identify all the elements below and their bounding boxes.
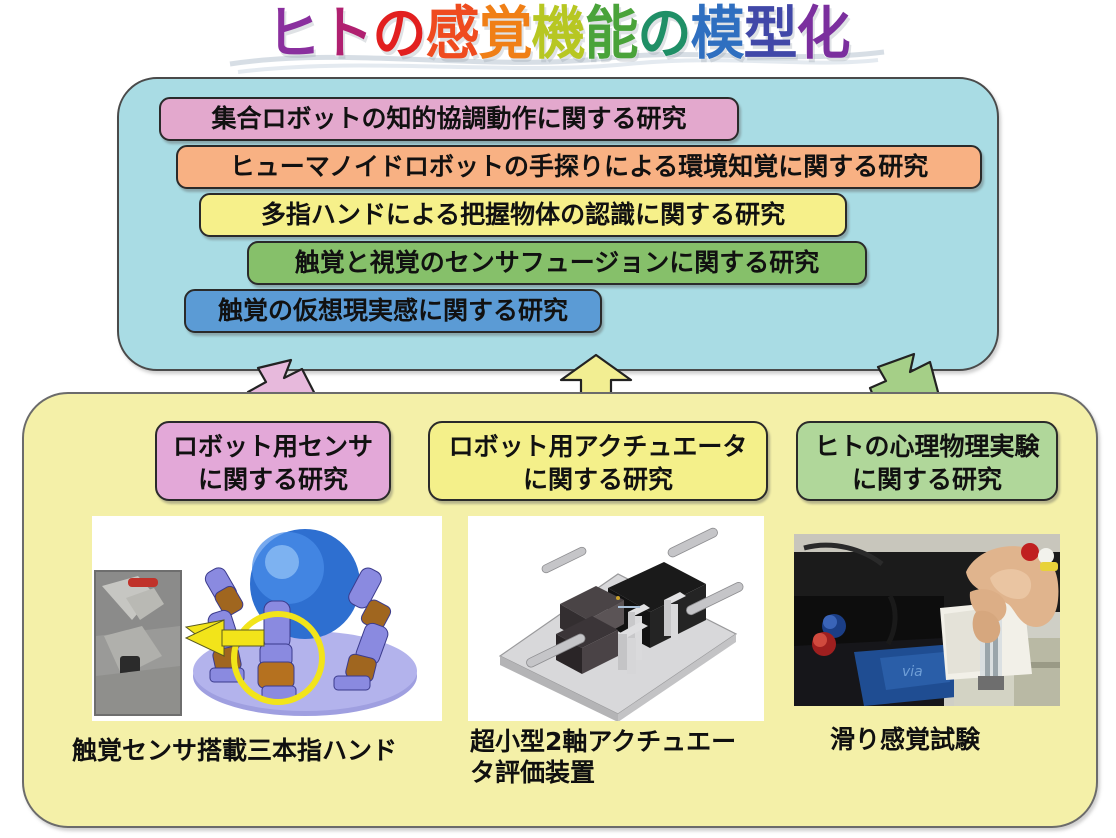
title-char: の [373, 0, 426, 68]
category-label-line1: ロボット用センサ [173, 432, 373, 461]
category-label-line2: に関する研究 [523, 465, 673, 494]
research-foundations-panel: ロボット用センサ に関する研究 ロボット用アクチュエータ に関する研究 ヒトの心… [22, 392, 1098, 828]
category-box-actuator: ロボット用アクチュエータ に関する研究 [428, 421, 768, 501]
title-char: ヒ [267, 0, 320, 68]
title-text: ヒトの感覚機能の模型化 [267, 0, 850, 68]
caption-sensor: 触覚センサ搭載三本指ハンド [72, 735, 444, 766]
category-label-line2: に関する研究 [852, 465, 1002, 494]
topic-bar-3: 多指ハンドによる把握物体の認識に関する研究 [199, 193, 847, 237]
category-label-line2: に関する研究 [198, 465, 348, 494]
category-box-psychophysics: ヒトの心理物理実験 に関する研究 [796, 421, 1058, 501]
category-box-sensor: ロボット用センサ に関する研究 [155, 421, 391, 501]
title-char: 機 [532, 0, 585, 68]
title-char: 型 [744, 0, 797, 68]
caption-psychophysics: 滑り感覚試験 [830, 724, 1070, 755]
title-char: 化 [797, 0, 850, 68]
diagram-canvas: ヒトの感覚機能の模型化 集合ロボットの知的協調動作に関する研究 ヒューマノイドロ… [0, 0, 1116, 838]
caption-actuator: 超小型2軸アクチュエー タ評価装置 [470, 726, 770, 788]
three-finger-tactile-hand-photo [92, 516, 442, 721]
svg-text:via: via [902, 664, 923, 680]
two-axis-actuator-evaluation-device-render [468, 516, 764, 721]
title-char: 模 [691, 0, 744, 68]
title-char: ト [320, 0, 373, 68]
topic-bar-5: 触覚の仮想現実感に関する研究 [184, 289, 602, 333]
slip-sensation-test-photo: via [794, 534, 1060, 706]
title-char: 能 [585, 0, 638, 68]
title-char: 感 [426, 0, 479, 68]
category-label-line1: ヒトの心理物理実験 [814, 432, 1039, 461]
page-title: ヒトの感覚機能の模型化 [0, 2, 1116, 74]
category-label-line1: ロボット用アクチュエータ [449, 432, 748, 461]
research-themes-panel: 集合ロボットの知的協調動作に関する研究 ヒューマノイドロボットの手探りによる環境… [117, 77, 999, 371]
title-char: 覚 [479, 0, 532, 68]
topic-bar-2: ヒューマノイドロボットの手探りによる環境知覚に関する研究 [176, 145, 982, 189]
topic-bar-4: 触覚と視覚のセンサフュージョンに関する研究 [247, 241, 867, 285]
title-char: の [638, 0, 691, 68]
topic-bar-1: 集合ロボットの知的協調動作に関する研究 [159, 97, 739, 141]
